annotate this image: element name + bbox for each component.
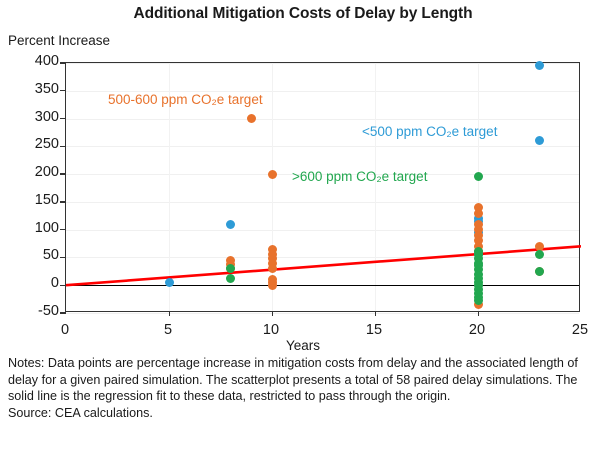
y-tick-label: 400 <box>3 54 59 69</box>
y-tick-label: 250 <box>3 137 59 152</box>
data-point <box>268 281 277 290</box>
data-point <box>474 296 483 305</box>
annot-green-label: >600 ppm CO₂e target <box>292 169 427 184</box>
data-point <box>268 264 277 273</box>
x-tick-label: 15 <box>354 322 394 338</box>
y-tick-mark <box>60 285 66 286</box>
y-tick-label: -50 <box>3 304 59 319</box>
chart-title: Additional Mitigation Costs of Delay by … <box>0 5 606 23</box>
x-tick-label: 5 <box>148 322 188 338</box>
y-tick-label: 100 <box>3 221 59 236</box>
y-tick-mark <box>60 173 66 174</box>
x-tick-label: 0 <box>45 322 85 338</box>
annot-blue-label: <500 ppm CO₂e target <box>362 124 497 139</box>
x-tick-label: 25 <box>560 322 600 338</box>
footnote-notes: Notes: Data points are percentage increa… <box>8 355 600 405</box>
x-tick-label: 20 <box>457 322 497 338</box>
data-point <box>268 170 277 179</box>
data-point <box>247 114 256 123</box>
y-tick-label: 300 <box>3 110 59 125</box>
x-tick-mark <box>478 311 479 316</box>
y-axis-label: Percent Increase <box>8 33 110 48</box>
x-tick-label: 10 <box>251 322 291 338</box>
y-tick-mark <box>60 90 66 91</box>
y-tick-label: 350 <box>3 82 59 97</box>
y-tick-mark <box>60 201 66 202</box>
x-tick-mark <box>272 311 273 316</box>
x-axis-label: Years <box>0 338 606 353</box>
annot-orange-label: 500-600 ppm CO₂e target <box>108 92 263 107</box>
y-tick-label: 0 <box>3 276 59 291</box>
y-tick-label: 50 <box>3 248 59 263</box>
footnote-source: Source: CEA calculations. <box>8 405 600 422</box>
x-tick-mark <box>169 311 170 316</box>
gridline-horizontal <box>66 313 579 314</box>
chart-container: Additional Mitigation Costs of Delay by … <box>0 0 606 467</box>
data-point <box>474 209 483 218</box>
footnote: Notes: Data points are percentage increa… <box>8 355 600 422</box>
y-tick-label: 150 <box>3 193 59 208</box>
y-tick-mark <box>60 257 66 258</box>
y-tick-mark <box>60 146 66 147</box>
data-point <box>474 172 483 181</box>
y-tick-mark <box>60 229 66 230</box>
y-tick-label: 200 <box>3 165 59 180</box>
data-point <box>165 278 174 287</box>
x-tick-mark <box>375 311 376 316</box>
y-tick-mark <box>60 312 66 313</box>
data-point <box>226 220 235 229</box>
y-tick-mark <box>60 62 66 63</box>
y-tick-mark <box>60 118 66 119</box>
